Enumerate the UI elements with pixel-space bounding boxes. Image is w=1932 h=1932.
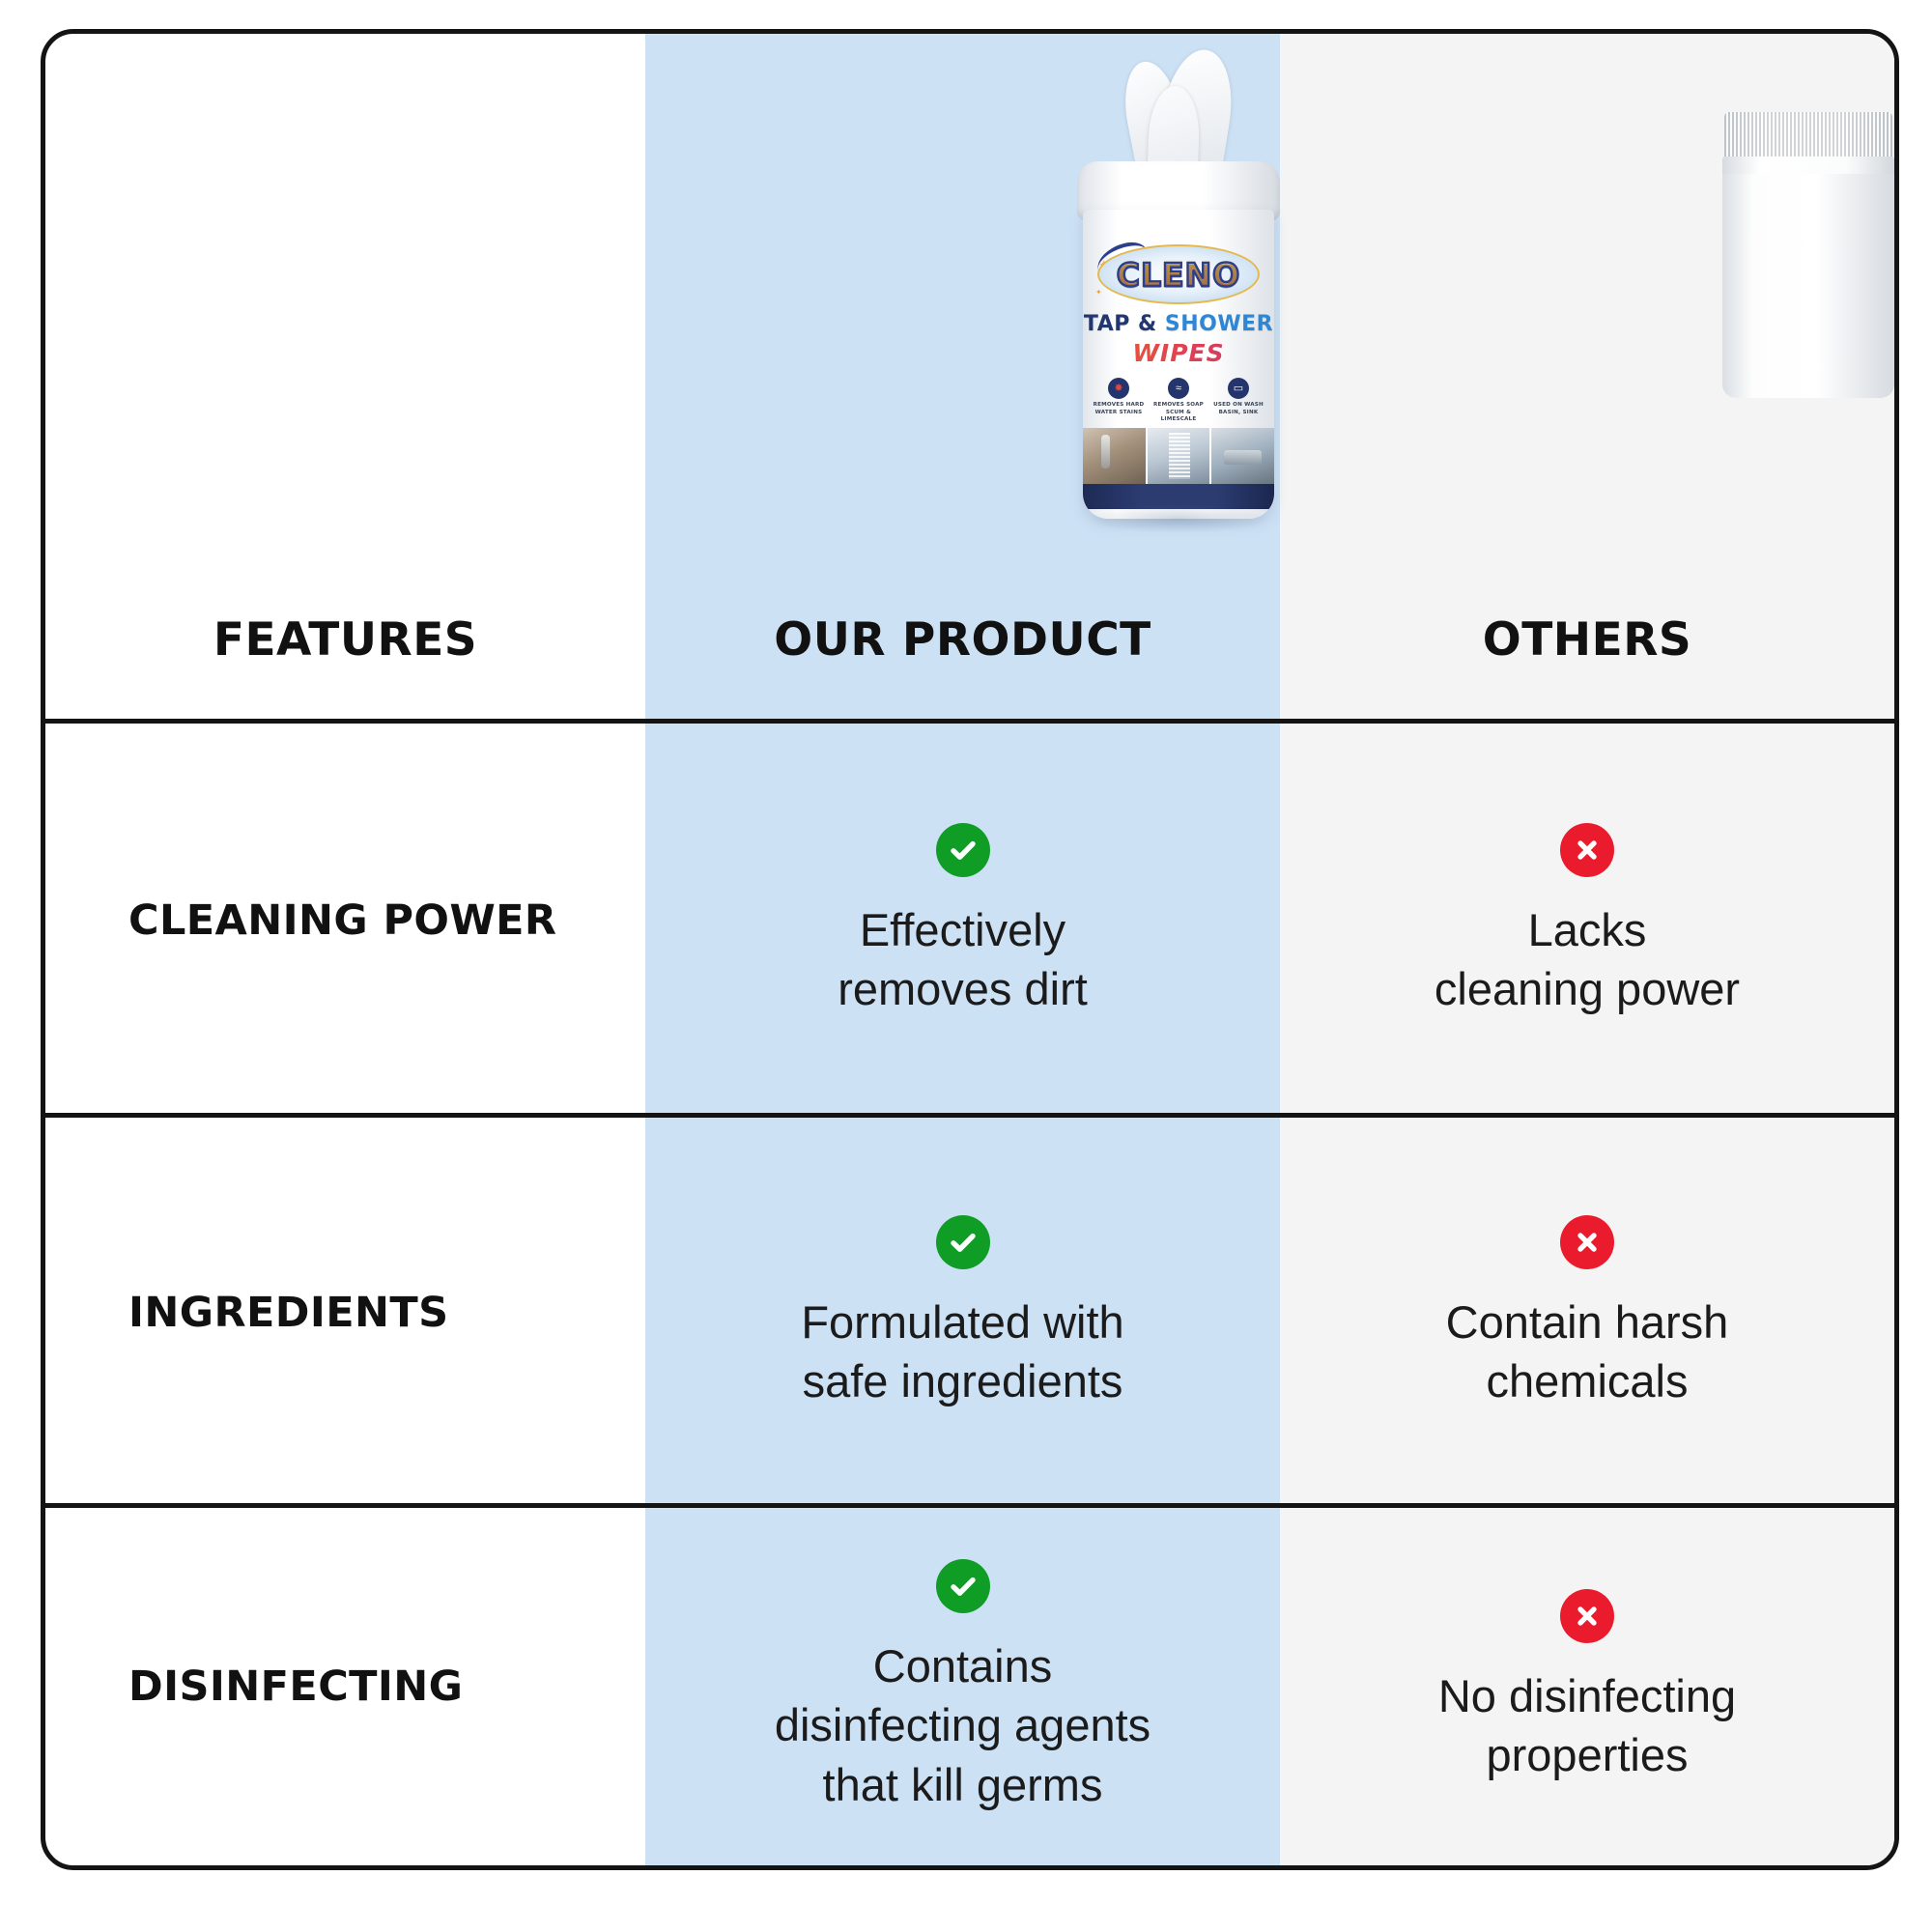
- cell-text-ours-disinfecting: Containsdisinfecting agentsthat kill ger…: [775, 1636, 1151, 1813]
- image-row-features-spacer: [45, 34, 645, 555]
- product-tagline-line2: WIPES: [1083, 339, 1274, 367]
- badge-caption: REMOVES HARD WATER STAINS: [1091, 402, 1147, 416]
- cell-ours-disinfecting: Containsdisinfecting agentsthat kill ger…: [645, 1508, 1280, 1865]
- generic-white-jar: [1722, 112, 1894, 402]
- product-badges: ✸ REMOVES HARD WATER STAINS ≈ REMOVES SO…: [1089, 378, 1268, 424]
- feature-label-disinfecting: DISINFECTING: [71, 1662, 620, 1712]
- cell-text-ours-cleaning-power: Effectivelyremoves dirt: [838, 900, 1088, 1018]
- sink-photo: [1209, 428, 1274, 484]
- stain-splash-icon: ✸: [1108, 378, 1129, 399]
- tagline-shower: SHOWER: [1165, 312, 1273, 336]
- cell-ours-cleaning-power: Effectivelyremoves dirt: [645, 724, 1280, 1118]
- cross-circle-icon: [1560, 823, 1614, 877]
- table-row: INGREDIENTS: [45, 1118, 645, 1508]
- cleno-canister: ✦ ✦ ✦ CLENO TAP & SHOWER WIPES ✸ RE: [1077, 53, 1280, 536]
- others-product-image: [1280, 34, 1894, 555]
- table-row: CLEANING POWER: [45, 724, 645, 1118]
- cell-text-ours-ingredients: Formulated withsafe ingredients: [801, 1293, 1123, 1410]
- badge-item: ≈ REMOVES SOAP SCUM & LIMESCALE: [1151, 378, 1207, 424]
- check-circle-icon: [936, 1215, 990, 1269]
- cell-ours-ingredients: Formulated withsafe ingredients: [645, 1118, 1280, 1508]
- badge-item: ▭ USED ON WASH BASIN, SINK: [1210, 378, 1266, 424]
- cell-others-ingredients: Contain harshchemicals: [1280, 1118, 1894, 1508]
- sparkle-icon: ✦: [1095, 289, 1102, 297]
- brand-name: CLENO: [1117, 256, 1240, 294]
- badge-caption: USED ON WASH BASIN, SINK: [1210, 402, 1266, 416]
- header-cell-others: OTHERS: [1280, 555, 1894, 724]
- badge-item: ✸ REMOVES HARD WATER STAINS: [1091, 378, 1147, 424]
- cell-text-others-ingredients: Contain harshchemicals: [1446, 1293, 1729, 1410]
- cross-circle-icon: [1560, 1589, 1614, 1643]
- column-header-others: OTHERS: [1483, 613, 1692, 667]
- jar-body: [1722, 174, 1894, 398]
- wash-basin-icon: ▭: [1228, 378, 1249, 399]
- cell-others-cleaning-power: Lackscleaning power: [1280, 724, 1894, 1118]
- column-header-features: FEATURES: [213, 613, 477, 667]
- shower-photo: [1146, 428, 1210, 484]
- tagline-tap: TAP &: [1084, 312, 1157, 336]
- brand-logo: CLENO: [1097, 244, 1260, 304]
- soap-scum-icon: ≈: [1168, 378, 1189, 399]
- comparison-table: ✦ ✦ ✦ CLENO TAP & SHOWER WIPES ✸ RE: [41, 29, 1899, 1870]
- header-cell-features: FEATURES: [45, 555, 645, 724]
- canister-label: ✦ ✦ ✦ CLENO TAP & SHOWER WIPES ✸ RE: [1083, 210, 1274, 519]
- header-cell-our-product: OUR PRODUCT: [645, 555, 1280, 724]
- badge-caption: REMOVES SOAP SCUM & LIMESCALE: [1151, 402, 1207, 424]
- jar-lid: [1724, 112, 1892, 158]
- cell-text-others-disinfecting: No disinfectingproperties: [1438, 1666, 1736, 1784]
- check-circle-icon: [936, 823, 990, 877]
- check-circle-icon: [936, 1559, 990, 1613]
- column-header-our-product: OUR PRODUCT: [774, 613, 1151, 667]
- our-product-image: ✦ ✦ ✦ CLENO TAP & SHOWER WIPES ✸ RE: [645, 34, 1280, 555]
- product-shadow: [1087, 504, 1270, 533]
- feature-label-cleaning-power: CLEANING POWER: [71, 895, 620, 946]
- product-tagline-line1: TAP & SHOWER: [1083, 312, 1274, 336]
- feature-label-ingredients: INGREDIENTS: [71, 1288, 620, 1338]
- tap-photo: [1083, 428, 1146, 484]
- cell-others-disinfecting: No disinfectingproperties: [1280, 1508, 1894, 1865]
- table-row: DISINFECTING: [45, 1508, 645, 1865]
- product-photo-strip: [1083, 428, 1274, 484]
- cell-text-others-cleaning-power: Lackscleaning power: [1435, 900, 1740, 1018]
- cross-circle-icon: [1560, 1215, 1614, 1269]
